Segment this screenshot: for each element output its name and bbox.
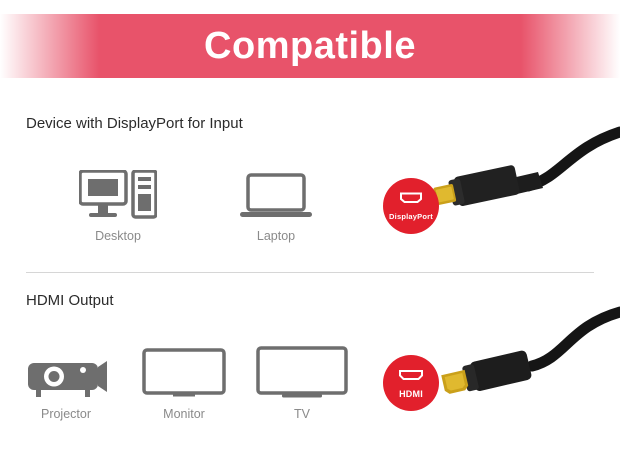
device-caption: Desktop (58, 229, 178, 243)
displayport-cable (420, 108, 620, 243)
hdmi-cable (420, 300, 620, 445)
device-desktop: Desktop (58, 160, 178, 243)
device-caption: TV (242, 407, 362, 421)
tv-icon (242, 338, 362, 400)
section-heading-input: Device with DisplayPort for Input (26, 115, 243, 132)
header-banner: Compatible (0, 14, 620, 78)
device-tv: TV (242, 338, 362, 421)
section-heading-output: HDMI Output (26, 292, 114, 309)
device-caption: Monitor (124, 407, 244, 421)
hdmi-plug-icon (398, 368, 424, 386)
device-monitor: Monitor (124, 338, 244, 421)
compatibility-infographic: Compatible Device with DisplayPort for I… (0, 0, 620, 450)
badge-label: HDMI (399, 389, 423, 399)
device-laptop: Laptop (216, 160, 336, 243)
page-title: Compatible (204, 27, 416, 65)
monitor-icon (124, 338, 244, 400)
laptop-icon (216, 160, 336, 222)
projector-icon (6, 338, 126, 400)
section-divider (26, 272, 594, 273)
device-caption: Laptop (216, 229, 336, 243)
badge-label: DisplayPort (389, 212, 433, 221)
device-projector: Projector (6, 338, 126, 421)
device-caption: Projector (6, 407, 126, 421)
desktop-computer-icon (58, 160, 178, 222)
displayport-plug-icon (399, 191, 423, 209)
status-badge-displayport: DisplayPort (383, 178, 439, 234)
status-badge-hdmi: HDMI (383, 355, 439, 411)
